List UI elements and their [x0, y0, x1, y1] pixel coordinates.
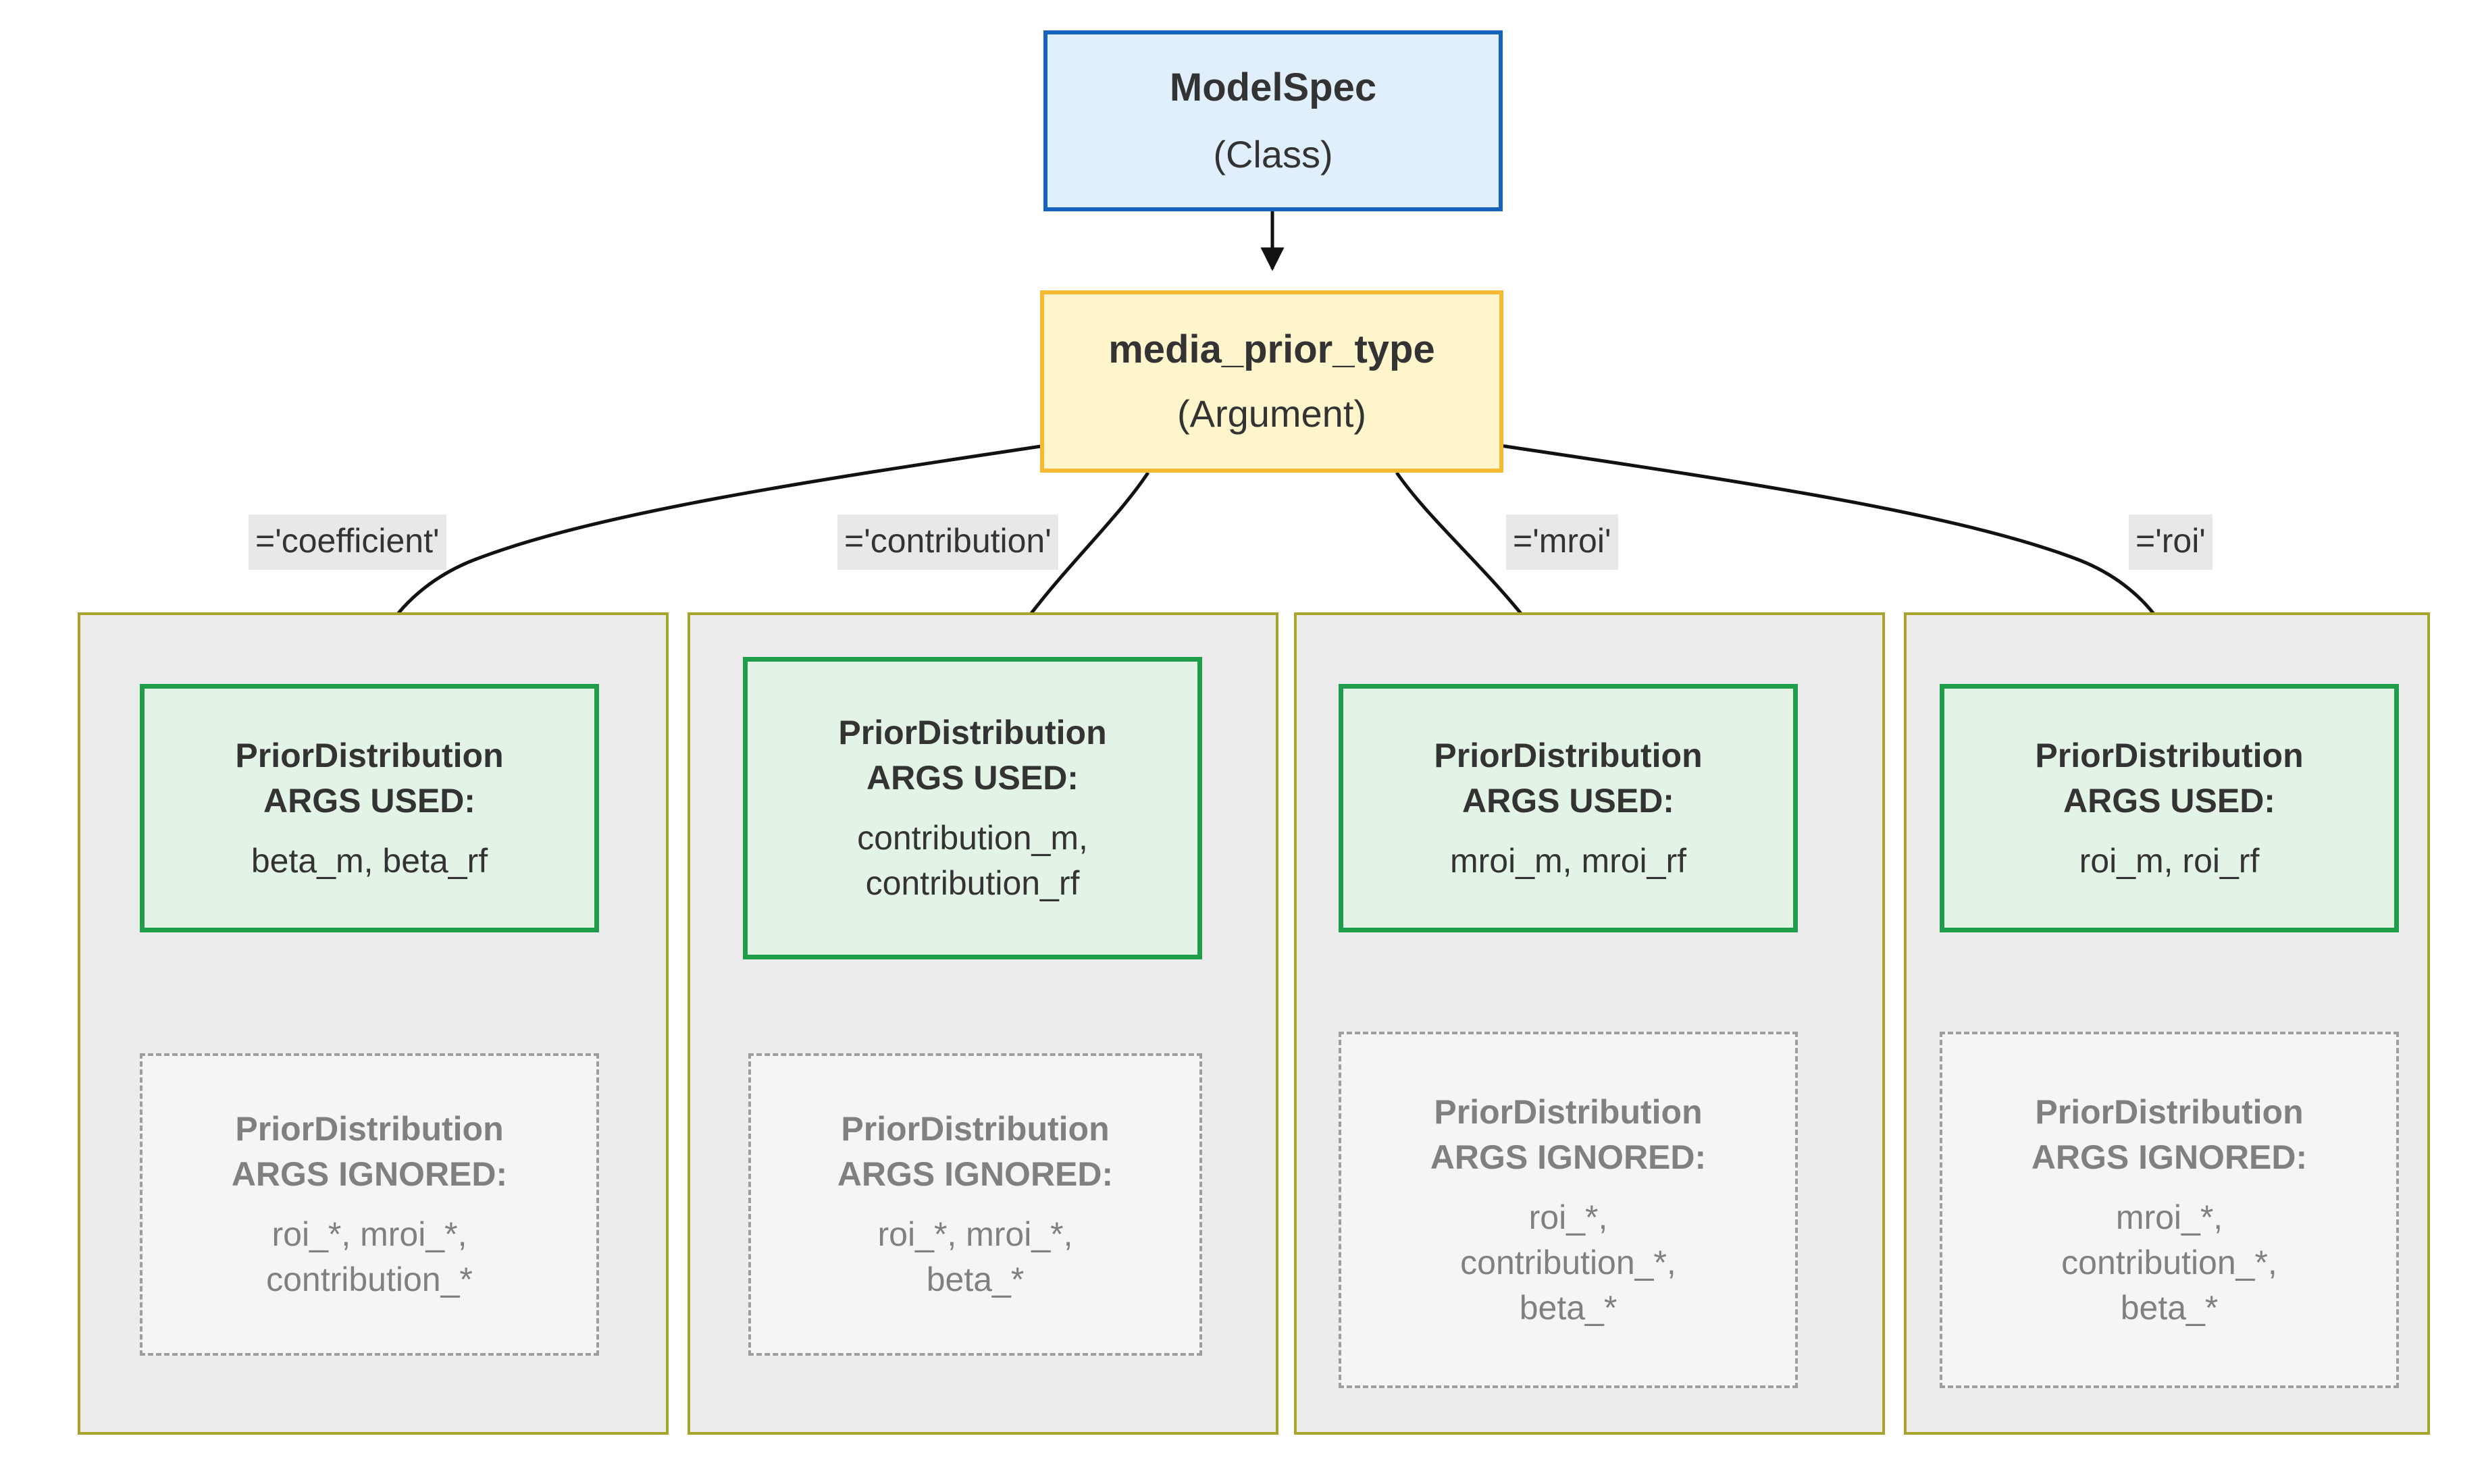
ignored-args-line1-coefficient: roi_*, mroi_*,	[272, 1212, 467, 1257]
used-title-coefficient: PriorDistribution	[235, 733, 503, 778]
used-subtitle-contribution: ARGS USED:	[866, 756, 1079, 801]
modelspec-kind: (Class)	[1213, 131, 1332, 178]
used-args-line1-contribution: contribution_m,	[857, 816, 1088, 861]
ignored-args-line3-mroi: beta_*	[1520, 1286, 1618, 1331]
used-subtitle-mroi: ARGS USED:	[1462, 778, 1674, 824]
argument-kind: (Argument)	[1177, 390, 1366, 438]
ignored-args-box-roi[interactable]: PriorDistribution ARGS IGNORED: mroi_*, …	[1940, 1032, 2399, 1388]
ignored-args-box-contribution[interactable]: PriorDistribution ARGS IGNORED: roi_*, m…	[748, 1053, 1202, 1356]
used-args-coefficient: beta_m, beta_rf	[251, 839, 488, 884]
used-title-contribution: PriorDistribution	[838, 710, 1106, 756]
ignored-args-line2-contribution: beta_*	[927, 1257, 1025, 1302]
node-modelspec[interactable]: ModelSpec (Class)	[1043, 30, 1503, 211]
used-subtitle-coefficient: ARGS USED:	[263, 778, 475, 824]
used-args-box-coefficient[interactable]: PriorDistribution ARGS USED: beta_m, bet…	[140, 684, 599, 932]
ignored-subtitle-coefficient: ARGS IGNORED:	[232, 1152, 507, 1197]
used-args-mroi: mroi_m, mroi_rf	[1450, 839, 1686, 884]
edge-label-contribution: ='contribution'	[837, 514, 1058, 570]
edge-label-mroi: ='mroi'	[1506, 514, 1618, 570]
edge-label-coefficient: ='coefficient'	[249, 514, 446, 570]
ignored-args-line2-mroi: contribution_*,	[1460, 1240, 1676, 1286]
ignored-args-box-coefficient[interactable]: PriorDistribution ARGS IGNORED: roi_*, m…	[140, 1053, 599, 1356]
used-args-box-roi[interactable]: PriorDistribution ARGS USED: roi_m, roi_…	[1940, 684, 2399, 932]
ignored-title-mroi: PriorDistribution	[1434, 1090, 1702, 1135]
ignored-args-box-mroi[interactable]: PriorDistribution ARGS IGNORED: roi_*, c…	[1339, 1032, 1798, 1388]
ignored-args-line2-coefficient: contribution_*	[266, 1257, 473, 1302]
ignored-subtitle-mroi: ARGS IGNORED:	[1430, 1135, 1706, 1180]
ignored-args-line1-mroi: roi_*,	[1529, 1195, 1608, 1240]
used-args-line2-contribution: contribution_rf	[866, 861, 1080, 906]
diagram-canvas: ModelSpec (Class) media_prior_type (Argu…	[0, 0, 2484, 1484]
argument-title: media_prior_type	[1108, 325, 1435, 375]
used-title-mroi: PriorDistribution	[1434, 733, 1702, 778]
used-subtitle-roi: ARGS USED:	[2063, 778, 2275, 824]
ignored-title-coefficient: PriorDistribution	[235, 1107, 503, 1152]
used-args-box-contribution[interactable]: PriorDistribution ARGS USED: contributio…	[743, 657, 1202, 959]
edge-label-roi: ='roi'	[2129, 514, 2213, 570]
modelspec-title: ModelSpec	[1170, 63, 1376, 113]
ignored-args-line3-roi: beta_*	[2121, 1286, 2219, 1331]
ignored-args-line2-roi: contribution_*,	[2061, 1240, 2277, 1286]
ignored-title-roi: PriorDistribution	[2035, 1090, 2303, 1135]
used-args-roi: roi_m, roi_rf	[2079, 839, 2260, 884]
ignored-subtitle-contribution: ARGS IGNORED:	[837, 1152, 1113, 1197]
used-args-box-mroi[interactable]: PriorDistribution ARGS USED: mroi_m, mro…	[1339, 684, 1798, 932]
node-media-prior-type[interactable]: media_prior_type (Argument)	[1040, 290, 1503, 473]
ignored-args-line1-contribution: roi_*, mroi_*,	[878, 1212, 1073, 1257]
ignored-subtitle-roi: ARGS IGNORED:	[2032, 1135, 2307, 1180]
ignored-title-contribution: PriorDistribution	[841, 1107, 1109, 1152]
ignored-args-line1-roi: mroi_*,	[2116, 1195, 2223, 1240]
used-title-roi: PriorDistribution	[2035, 733, 2303, 778]
